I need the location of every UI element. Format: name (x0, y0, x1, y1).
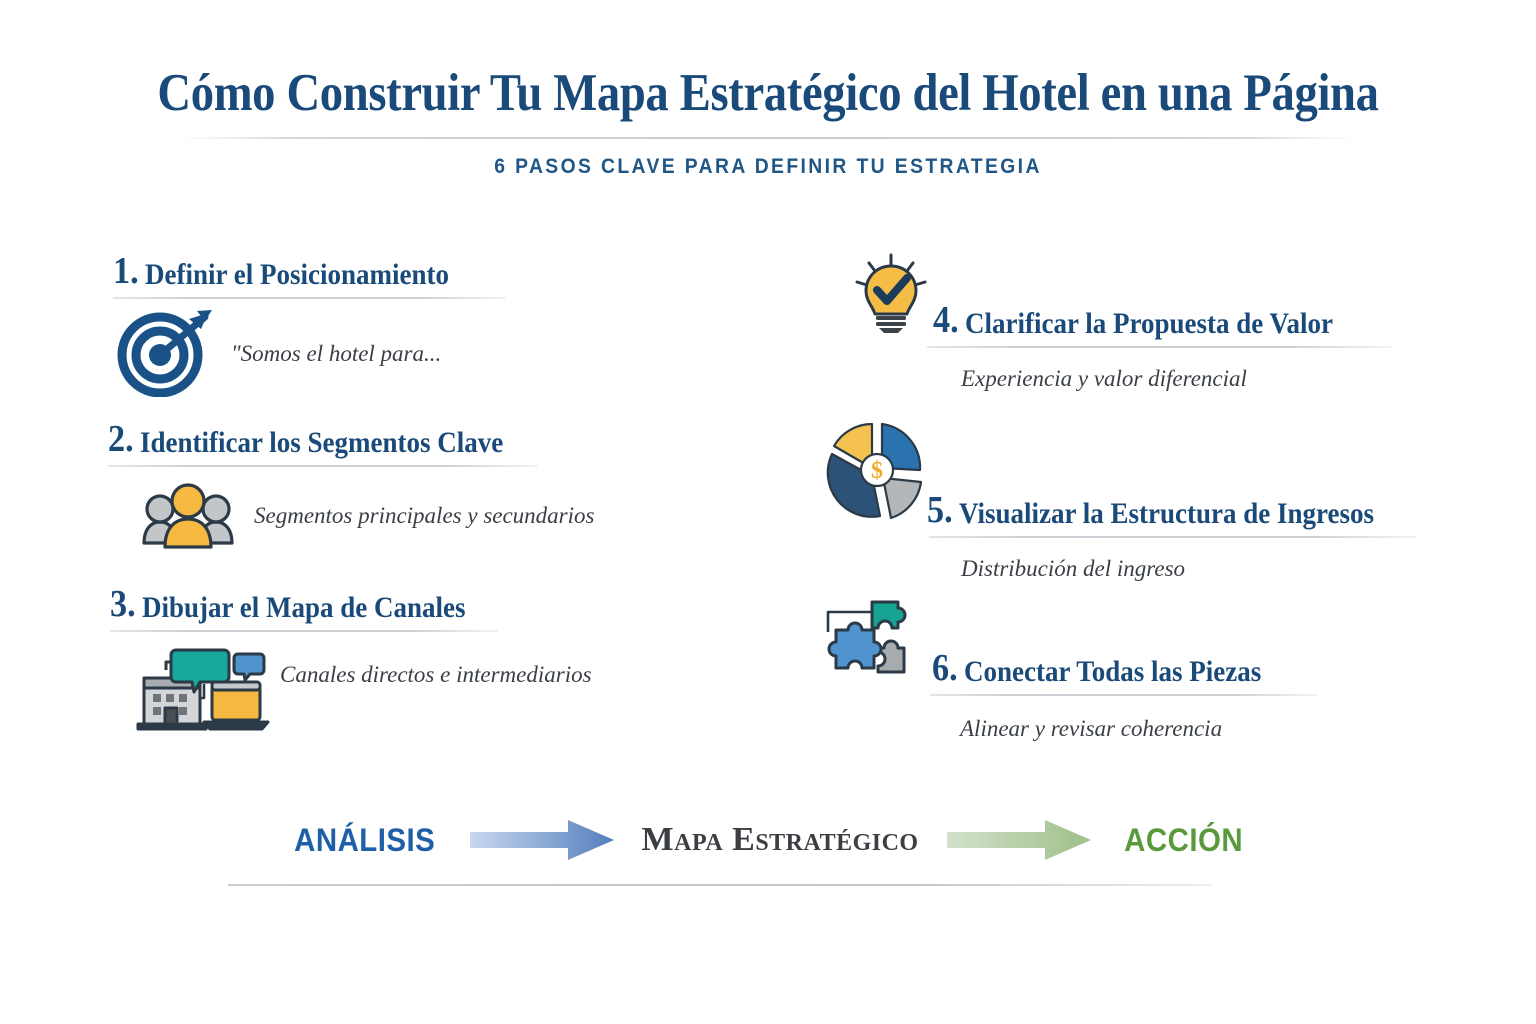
step-1-title: Definir el Posicionamiento (145, 260, 449, 290)
banner-label-analisis: ANÁLISIS (294, 822, 435, 859)
step-3-title: Dibujar el Mapa de Canales (142, 593, 466, 623)
step-1-heading: 1. Definir el Posicionamiento (113, 252, 506, 290)
step-4-heading: 4. Clarificar la Propuesta de Valor (845, 252, 1391, 339)
step-2-body: Segmentos principales y secundarios (108, 477, 594, 554)
step-3-description: Canales directos e intermediarios (280, 662, 592, 688)
step-5-description: Distribución del ingreso (961, 556, 1185, 582)
process-banner: ANÁLISIS Mapa Estratégico ACCIÓN (0, 818, 1536, 862)
svg-text:$: $ (871, 458, 883, 484)
step-1-divider (113, 297, 506, 299)
step-card-4[interactable]: 4. Clarificar la Propuesta de Valor Expe… (845, 252, 1391, 392)
step-3-divider (110, 630, 498, 632)
puzzle-pieces-icon (800, 590, 936, 687)
step-5-heading: $ 5. Visualizar la Estructura de Ingreso… (825, 420, 1420, 529)
right-arrow-green-icon (945, 818, 1093, 862)
step-1-number: 1. (113, 252, 139, 290)
target-arrow-icon (113, 305, 223, 402)
step-6-heading: 6. Conectar Todas las Piezas (800, 590, 1318, 687)
lightbulb-check-icon (845, 252, 937, 339)
step-card-5[interactable]: $ 5. Visualizar la Estructura de Ingreso… (825, 420, 1420, 582)
banner-label-accion: ACCIÓN (1124, 822, 1243, 859)
step-card-6[interactable]: 6. Conectar Todas las Piezas Alinear y r… (800, 590, 1318, 742)
step-5-divider (929, 536, 1417, 538)
page-title: Cómo Construir Tu Mapa Estratégico del H… (92, 66, 1444, 121)
step-2-description: Segmentos principales y secundarios (254, 503, 594, 529)
banner-label-mapa-estrategico: Mapa Estratégico (642, 821, 919, 859)
step-4-body: Experiencia y valor diferencial (961, 366, 1391, 392)
step-card-3[interactable]: 3. Dibujar el Mapa de Canales (110, 585, 592, 737)
step-card-1[interactable]: 1. Definir el Posicionamiento "Somos el … (113, 252, 506, 402)
step-4-description: Experiencia y valor diferencial (961, 366, 1247, 392)
step-6-body: Alinear y revisar coherencia (960, 716, 1318, 742)
building-laptop-channels-icon (130, 640, 270, 737)
step-1-description: "Somos el hotel para... (231, 341, 441, 367)
step-5-body: Distribución del ingreso (961, 556, 1420, 582)
step-2-number: 2. (108, 420, 134, 458)
people-group-icon (134, 477, 242, 554)
step-3-number: 3. (110, 585, 136, 623)
step-3-heading: 3. Dibujar el Mapa de Canales (110, 585, 592, 623)
right-arrow-blue-icon (468, 818, 616, 862)
step-2-divider (108, 465, 538, 467)
step-4-divider (927, 346, 1391, 348)
step-card-2[interactable]: 2. Identificar los Segmentos Clave Segme… (108, 420, 594, 554)
step-6-description: Alinear y revisar coherencia (960, 716, 1222, 742)
step-2-heading: 2. Identificar los Segmentos Clave (108, 420, 594, 458)
banner-divider (228, 884, 1212, 886)
step-2-title: Identificar los Segmentos Clave (140, 428, 503, 458)
step-1-body: "Somos el hotel para... (113, 305, 506, 402)
step-5-number: 5. (927, 491, 953, 529)
header: Cómo Construir Tu Mapa Estratégico del H… (0, 0, 1536, 179)
page-subtitle: 6 PASOS CLAVE PARA DEFINIR TU ESTRATEGIA (61, 155, 1474, 179)
title-divider (181, 137, 1355, 139)
step-6-title: Conectar Todas las Piezas (964, 657, 1261, 687)
step-5-title: Visualizar la Estructura de Ingresos (959, 499, 1374, 529)
step-6-divider (930, 694, 1318, 696)
pie-chart-dollar-icon: $ (825, 420, 931, 529)
step-4-title: Clarificar la Propuesta de Valor (965, 309, 1333, 339)
step-4-number: 4. (933, 301, 959, 339)
step-6-number: 6. (932, 649, 958, 687)
step-3-body: Canales directos e intermediarios (110, 640, 592, 737)
